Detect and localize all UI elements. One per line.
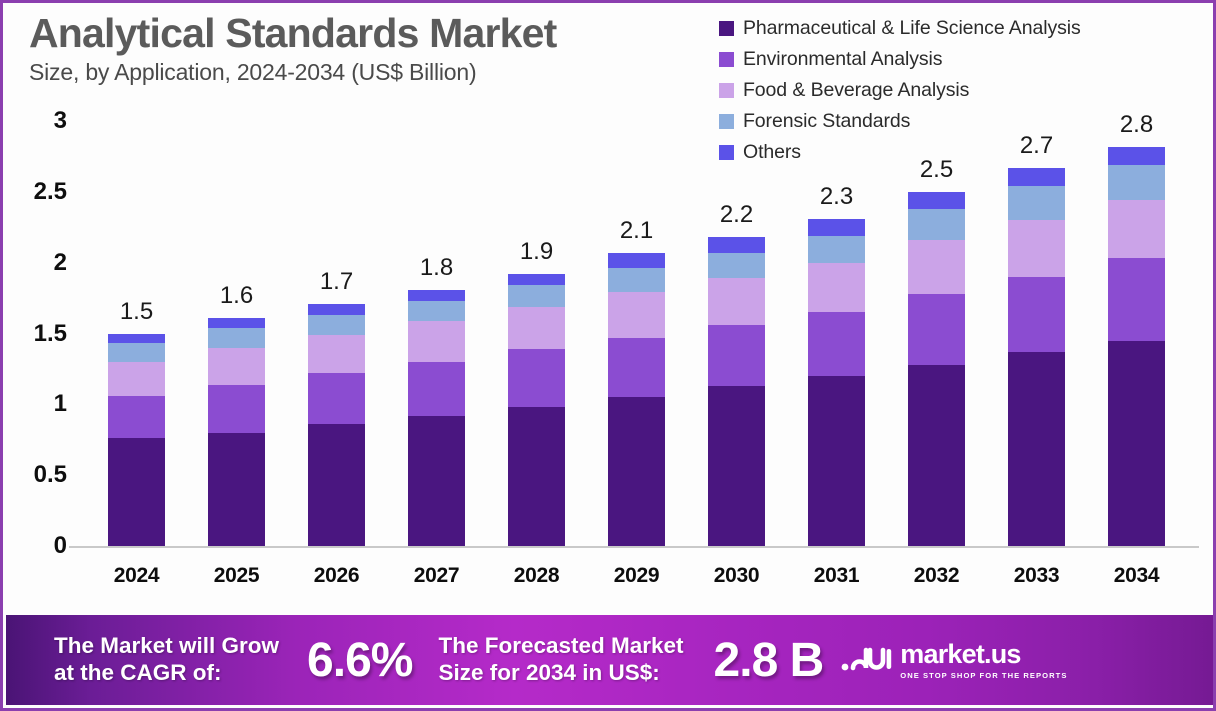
- bar-group[interactable]: 1.62025: [208, 3, 265, 603]
- bar-group[interactable]: 2.22030: [708, 3, 765, 603]
- bar-total-label: 2.1: [592, 217, 682, 245]
- x-axis-tick-label: 2032: [887, 564, 987, 588]
- bar-segment[interactable]: [808, 376, 865, 546]
- bar-segment[interactable]: [1108, 165, 1165, 200]
- bar-total-label: 2.8: [1092, 111, 1182, 139]
- stacked-bar[interactable]: [508, 274, 565, 546]
- bar-segment[interactable]: [308, 315, 365, 335]
- bar-segment[interactable]: [308, 424, 365, 546]
- bar-segment[interactable]: [808, 219, 865, 236]
- stacked-bar[interactable]: [808, 219, 865, 546]
- cagr-label: The Market will Grow at the CAGR of:: [54, 633, 279, 686]
- bar-segment[interactable]: [1008, 277, 1065, 352]
- bar-segment[interactable]: [1008, 220, 1065, 277]
- bar-segment[interactable]: [608, 268, 665, 292]
- y-axis-tick-label: 0: [15, 532, 67, 560]
- stacked-bar[interactable]: [108, 334, 165, 546]
- market-us-logo-text: market.us ONE STOP SHOP FOR THE REPORTS: [900, 641, 1067, 680]
- stacked-bar[interactable]: [1008, 168, 1065, 546]
- bar-segment[interactable]: [108, 396, 165, 439]
- bar-group[interactable]: 2.12029: [608, 3, 665, 603]
- logo-name: market.us: [900, 641, 1067, 668]
- bar-segment[interactable]: [1108, 200, 1165, 258]
- x-axis-tick-label: 2033: [987, 564, 1087, 588]
- infographic-canvas: Analytical Standards Market Size, by App…: [0, 0, 1216, 711]
- bar-segment[interactable]: [208, 328, 265, 348]
- bar-segment[interactable]: [808, 263, 865, 313]
- bar-segment[interactable]: [1008, 352, 1065, 546]
- bar-segment[interactable]: [208, 318, 265, 328]
- stacked-bar[interactable]: [1108, 147, 1165, 546]
- footer-banner: The Market will Grow at the CAGR of: 6.6…: [6, 615, 1216, 705]
- x-axis-tick-label: 2029: [587, 564, 687, 588]
- bar-total-label: 1.9: [492, 238, 582, 266]
- bar-segment[interactable]: [108, 438, 165, 546]
- chart-plot-area: 00.511.522.53 1.520241.620251.720261.820…: [3, 3, 1216, 603]
- y-axis: 00.511.522.53: [15, 3, 67, 603]
- bar-segment[interactable]: [408, 301, 465, 321]
- bar-total-label: 2.3: [792, 183, 882, 211]
- bar-segment[interactable]: [108, 343, 165, 361]
- stacked-bar[interactable]: [708, 237, 765, 546]
- bar-total-label: 2.5: [892, 156, 982, 184]
- bar-total-label: 1.6: [192, 282, 282, 310]
- bar-segment[interactable]: [608, 397, 665, 546]
- bar-segment[interactable]: [208, 385, 265, 433]
- bar-total-label: 1.8: [392, 254, 482, 282]
- x-axis-tick-label: 2027: [387, 564, 487, 588]
- bar-segment[interactable]: [408, 321, 465, 362]
- bar-segment[interactable]: [508, 274, 565, 285]
- bar-group[interactable]: 2.32031: [808, 3, 865, 603]
- forecast-label-line2: Size for 2034 in US$:: [438, 660, 683, 687]
- x-axis-tick-label: 2034: [1087, 564, 1187, 588]
- bar-segment[interactable]: [908, 192, 965, 209]
- bar-segment[interactable]: [708, 278, 765, 325]
- bar-segment[interactable]: [508, 307, 565, 350]
- stacked-bar[interactable]: [408, 290, 465, 546]
- stacked-bar[interactable]: [308, 304, 365, 546]
- bar-total-label: 2.2: [692, 201, 782, 229]
- bar-segment[interactable]: [508, 349, 565, 407]
- bar-segment[interactable]: [808, 312, 865, 376]
- bar-segment[interactable]: [908, 209, 965, 240]
- bar-segment[interactable]: [1008, 186, 1065, 220]
- bar-segment[interactable]: [308, 373, 365, 424]
- stacked-bar[interactable]: [908, 192, 965, 546]
- bar-segment[interactable]: [508, 285, 565, 306]
- x-axis-tick-label: 2031: [787, 564, 887, 588]
- y-axis-tick-label: 0.5: [15, 461, 67, 489]
- x-axis-tick-label: 2026: [287, 564, 387, 588]
- bar-segment[interactable]: [708, 325, 765, 386]
- bar-group[interactable]: 1.52024: [108, 3, 165, 603]
- bar-segment[interactable]: [408, 416, 465, 546]
- market-us-logo[interactable]: market.us ONE STOP SHOP FOR THE REPORTS: [841, 641, 1067, 680]
- x-axis-tick-label: 2030: [687, 564, 787, 588]
- bar-segment[interactable]: [308, 335, 365, 373]
- bar-segment[interactable]: [908, 294, 965, 365]
- market-us-logo-mark: [841, 643, 893, 678]
- cagr-value: 6.6%: [307, 633, 412, 688]
- bar-group[interactable]: 1.82027: [408, 3, 465, 603]
- bar-segment[interactable]: [1108, 147, 1165, 165]
- stacked-bar[interactable]: [208, 318, 265, 546]
- bar-segment[interactable]: [1108, 341, 1165, 546]
- bar-segment[interactable]: [708, 253, 765, 279]
- bar-segment[interactable]: [208, 348, 265, 385]
- bar-total-label: 1.7: [292, 268, 382, 296]
- y-axis-tick-label: 1.5: [15, 320, 67, 348]
- bar-segment[interactable]: [608, 253, 665, 269]
- y-axis-tick-label: 2: [15, 249, 67, 277]
- forecast-label: The Forecasted Market Size for 2034 in U…: [438, 633, 683, 686]
- bar-group[interactable]: 2.52032: [908, 3, 965, 603]
- bar-segment[interactable]: [708, 237, 765, 253]
- bar-segment[interactable]: [208, 433, 265, 546]
- bar-segment[interactable]: [608, 338, 665, 398]
- bar-total-label: 1.5: [92, 298, 182, 326]
- bar-segment[interactable]: [808, 236, 865, 263]
- bar-group[interactable]: 1.92028: [508, 3, 565, 603]
- bar-segment[interactable]: [308, 304, 365, 315]
- bar-segment[interactable]: [708, 386, 765, 546]
- x-axis-tick-label: 2028: [487, 564, 587, 588]
- bar-segment[interactable]: [508, 407, 565, 546]
- y-axis-tick-label: 1: [15, 390, 67, 418]
- cagr-label-line1: The Market will Grow: [54, 633, 279, 660]
- bar-group[interactable]: 2.82034: [1108, 3, 1165, 603]
- bar-group[interactable]: 1.72026: [308, 3, 365, 603]
- bar-segment[interactable]: [1108, 258, 1165, 340]
- bar-segment[interactable]: [908, 365, 965, 546]
- forecast-label-line1: The Forecasted Market: [438, 633, 683, 660]
- bar-group[interactable]: 2.72033: [1008, 3, 1065, 603]
- x-axis-tick-label: 2025: [187, 564, 287, 588]
- bar-segment[interactable]: [608, 292, 665, 337]
- y-axis-tick-label: 3: [15, 107, 67, 135]
- forecast-value: 2.8 B: [714, 633, 824, 688]
- y-axis-tick-label: 2.5: [15, 178, 67, 206]
- bar-total-label: 2.7: [992, 132, 1082, 160]
- logo-tagline: ONE STOP SHOP FOR THE REPORTS: [900, 671, 1067, 680]
- stacked-bar[interactable]: [608, 253, 665, 546]
- bar-segment[interactable]: [108, 334, 165, 344]
- bar-segment[interactable]: [1008, 168, 1065, 186]
- bar-segment[interactable]: [108, 362, 165, 396]
- x-axis-tick-label: 2024: [87, 564, 187, 588]
- bar-segment[interactable]: [408, 362, 465, 416]
- bar-segment[interactable]: [908, 240, 965, 294]
- cagr-label-line2: at the CAGR of:: [54, 660, 279, 687]
- bar-segment[interactable]: [408, 290, 465, 301]
